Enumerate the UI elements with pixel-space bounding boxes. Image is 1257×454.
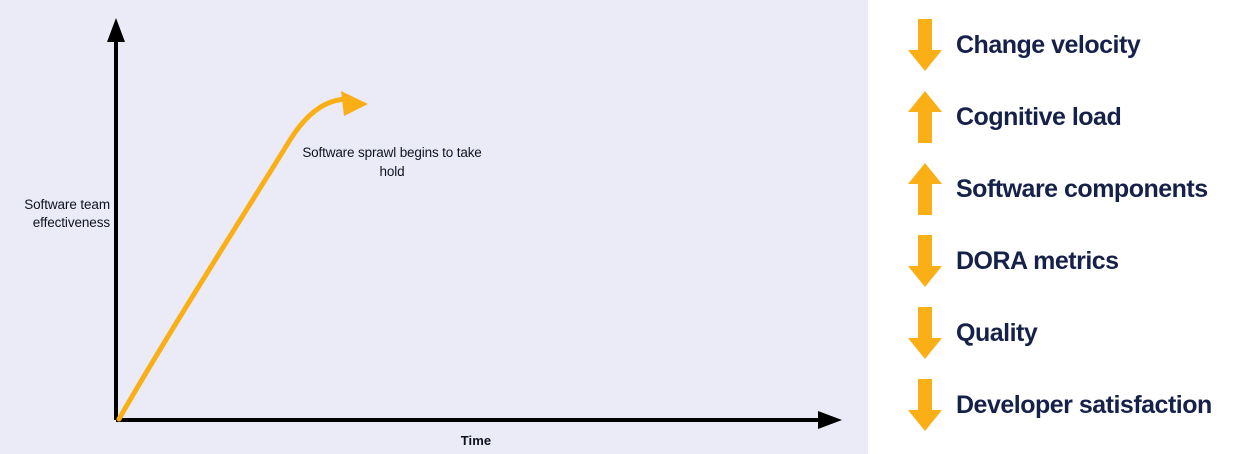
metric-row: Change velocity <box>868 9 1257 81</box>
arrow-down-icon <box>908 377 942 433</box>
metric-label: Quality <box>956 321 1037 346</box>
x-axis-label: Time <box>406 432 546 450</box>
curve-annotation-text: Software sprawl begins to take hold <box>292 143 492 181</box>
metric-label: Cognitive load <box>956 105 1121 130</box>
metric-row: Cognitive load <box>868 81 1257 153</box>
axis-arrow-right-icon <box>818 411 842 429</box>
metric-row: Quality <box>868 297 1257 369</box>
metric-row: Developer satisfaction <box>868 369 1257 441</box>
curve-arrow-icon <box>341 91 368 116</box>
axis-arrow-up-icon <box>107 18 125 42</box>
arrow-down-icon <box>908 233 942 289</box>
arrow-down-icon <box>908 17 942 73</box>
infographic-root: Software team effectiveness Time Softwar… <box>0 0 1257 454</box>
metric-label: Change velocity <box>956 33 1140 58</box>
y-axis-label: Software team effectiveness <box>0 196 110 232</box>
metric-row: Software components <box>868 153 1257 225</box>
metric-label: Developer satisfaction <box>956 393 1212 418</box>
metric-label: DORA metrics <box>956 249 1119 274</box>
arrow-up-icon <box>908 89 942 145</box>
arrow-down-icon <box>908 305 942 361</box>
chart-canvas <box>0 0 868 454</box>
metrics-panel: Change velocity Cognitive load Software … <box>868 0 1257 454</box>
arrow-up-icon <box>908 161 942 217</box>
chart-panel: Software team effectiveness Time Softwar… <box>0 0 868 454</box>
metric-label: Software components <box>956 177 1208 202</box>
metric-row: DORA metrics <box>868 225 1257 297</box>
